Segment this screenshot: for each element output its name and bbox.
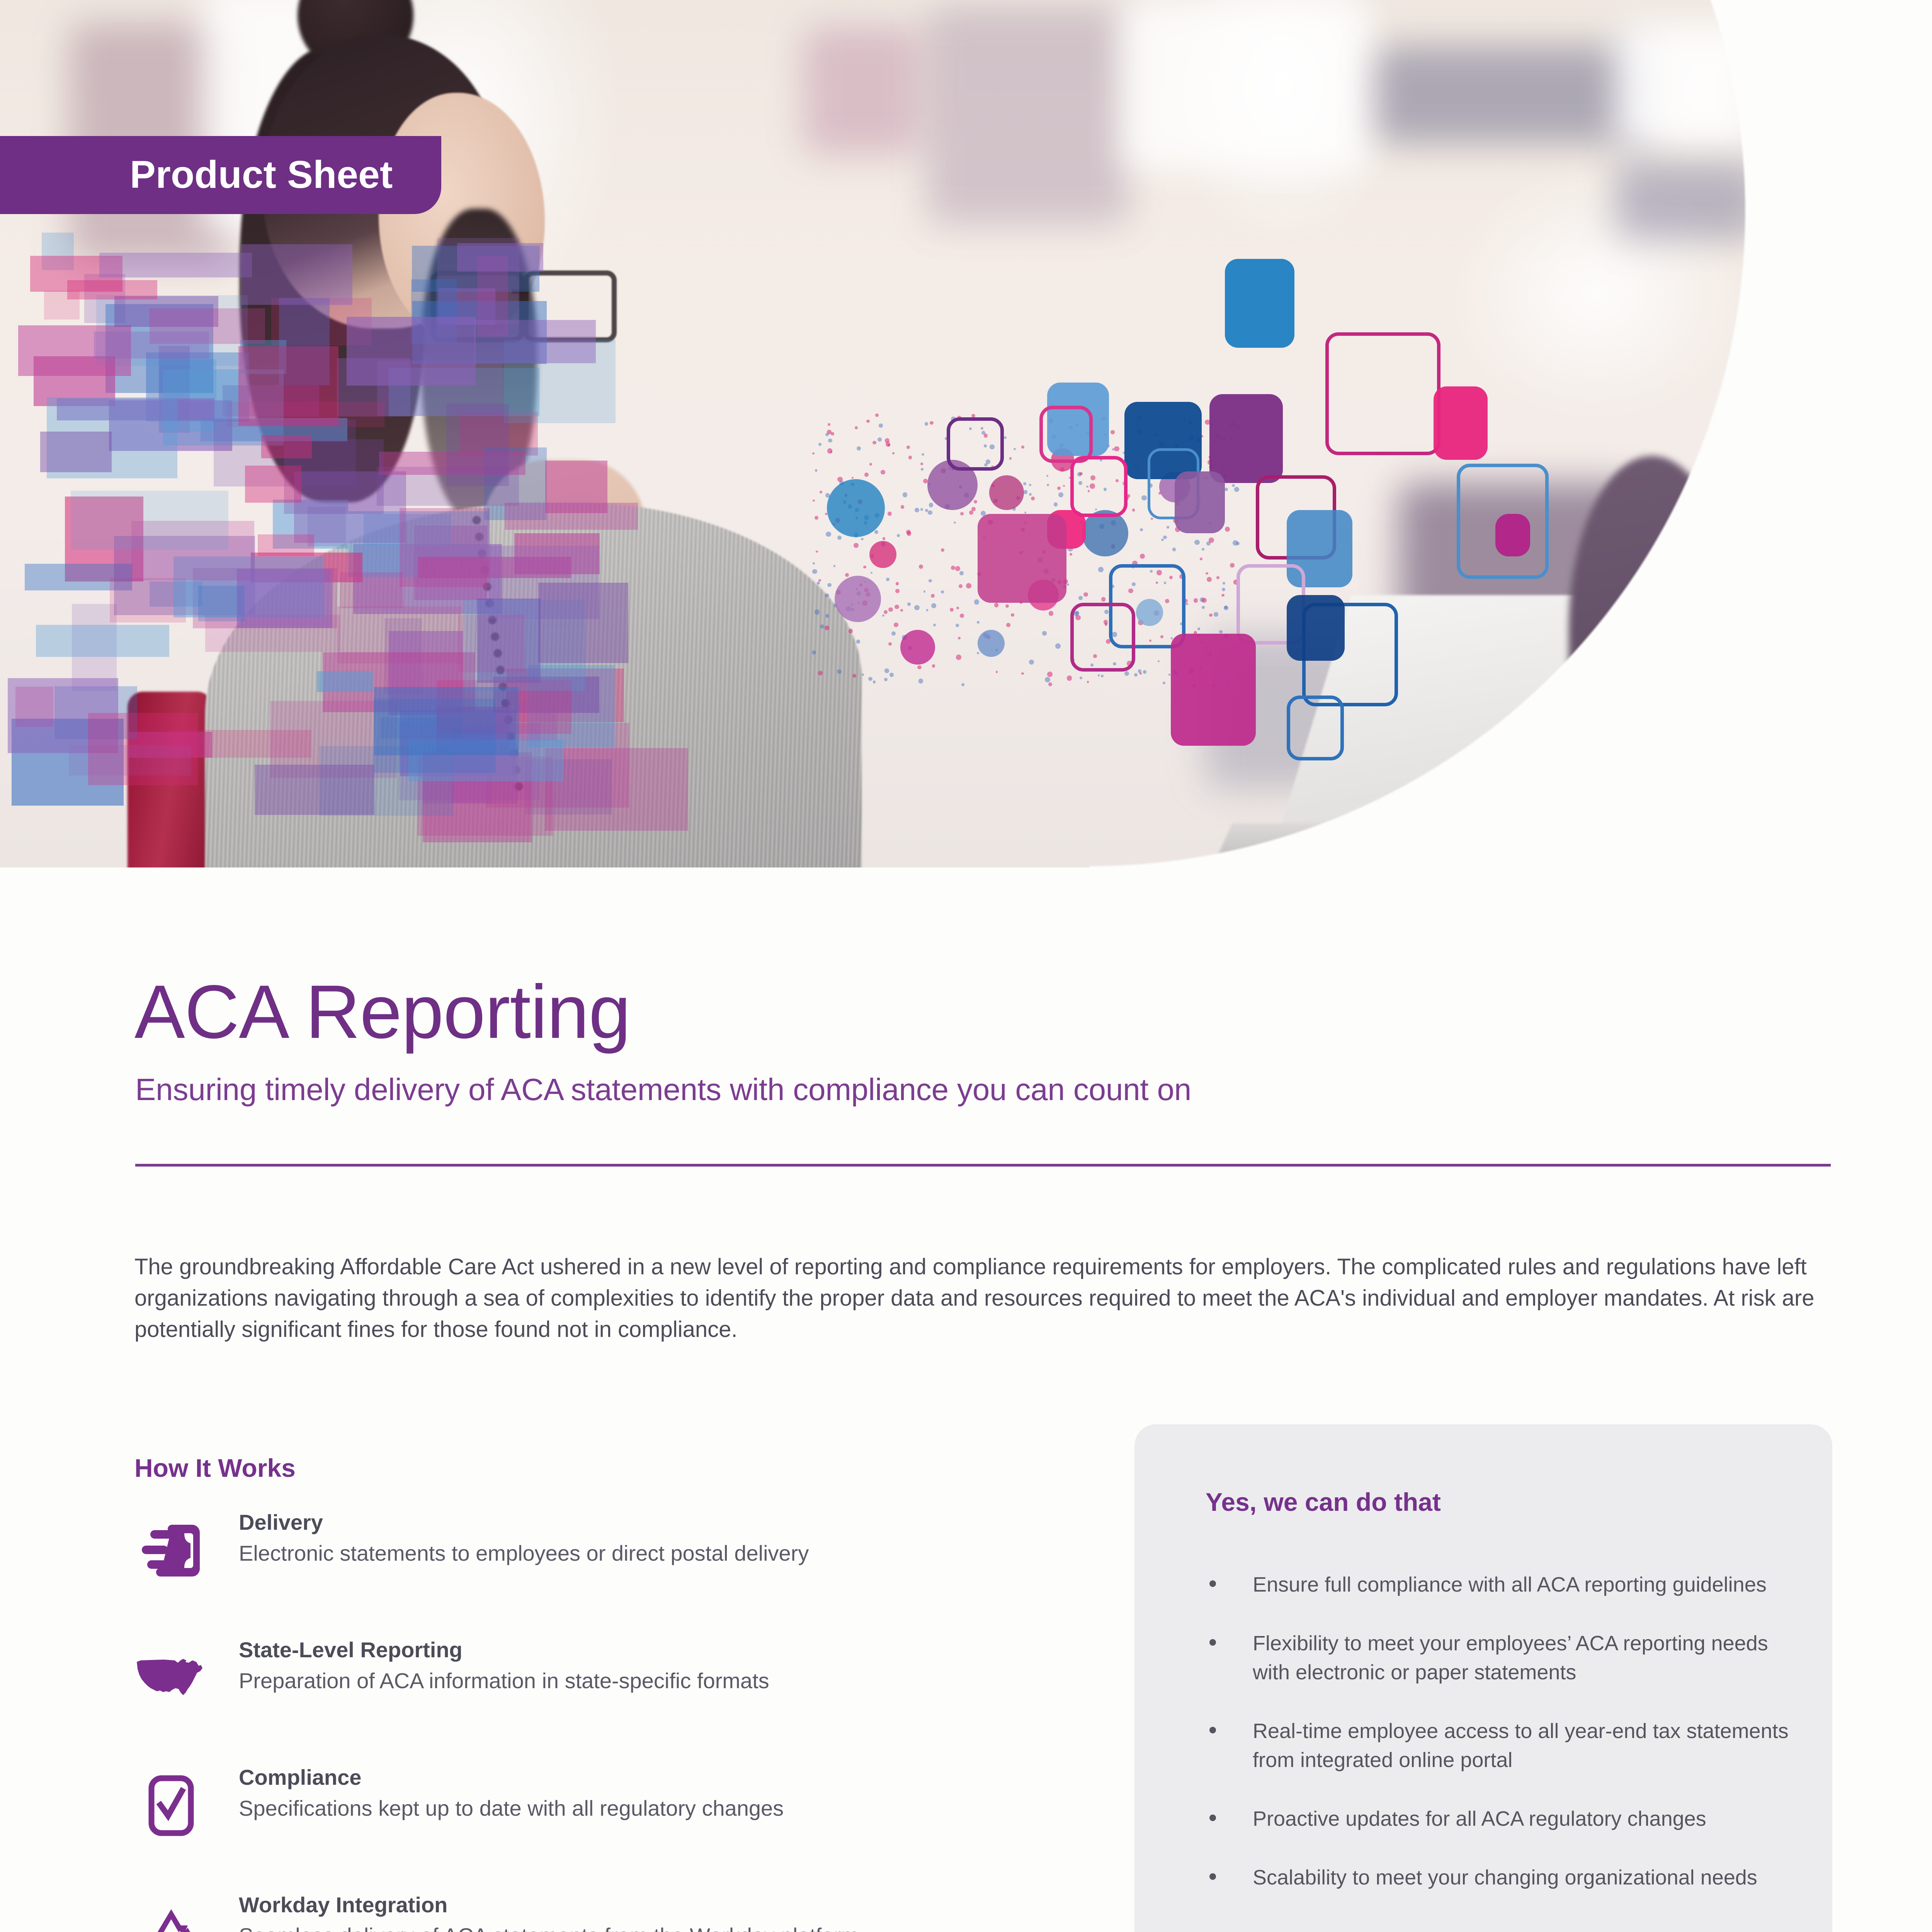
page-title: ACA Reporting (134, 974, 631, 1050)
feature-workday-integration: Workday Integration Seamless delivery of… (134, 1889, 1081, 1932)
checkbox-check-icon (134, 1769, 208, 1842)
feature-delivery: Delivery Electronic statements to employ… (134, 1507, 1081, 1596)
callout-bullet-item: Scalability to meet your changing organi… (1201, 1863, 1790, 1893)
feature-description: Electronic statements to employees or di… (239, 1539, 1081, 1568)
feature-compliance: Compliance Specifications kept up to dat… (134, 1762, 1081, 1851)
hero-photo (0, 0, 1747, 867)
product-sheet-badge-label: Product Sheet (130, 155, 393, 194)
callout-bullet-item: Flexibility to meet your employees’ ACA … (1201, 1629, 1790, 1687)
product-sheet-page: Product Sheet ACA Reporting Ensuring tim… (0, 0, 1932, 1932)
callout-bullet-text: Proactive updates for all ACA regulatory… (1253, 1807, 1706, 1830)
bullet-dot-icon (1209, 1639, 1216, 1646)
product-sheet-badge: Product Sheet (0, 136, 441, 214)
feature-description: Specifications kept up to date with all … (239, 1794, 1081, 1823)
floating-squares-graphic (831, 216, 1747, 866)
bullet-dot-icon (1209, 1873, 1216, 1880)
us-map-icon (134, 1641, 208, 1715)
how-it-works-list: Delivery Electronic statements to employ… (134, 1507, 1081, 1932)
callout-bullet-text: Flexibility to meet your employees’ ACA … (1253, 1632, 1768, 1684)
bullet-dot-icon (1209, 1727, 1216, 1733)
pixel-mosaic-graphic (0, 232, 603, 835)
feature-title: Compliance (239, 1765, 1081, 1790)
feature-title: State-Level Reporting (239, 1638, 1081, 1663)
callout-bullet-item: Real-time employee access to all year-en… (1201, 1717, 1790, 1775)
callout-title: Yes, we can do that (1206, 1489, 1441, 1515)
feature-description: Seamless delivery of ACA statements from… (239, 1922, 1081, 1932)
page-subtitle: Ensuring timely delivery of ACA statemen… (135, 1074, 1191, 1105)
feature-state-level-reporting: State-Level Reporting Preparation of ACA… (134, 1634, 1081, 1723)
callout-bullet-text: Ensure full compliance with all ACA repo… (1253, 1573, 1767, 1596)
feature-title: Delivery (239, 1510, 1081, 1535)
bullet-dot-icon (1209, 1580, 1216, 1587)
intro-paragraph: The groundbreaking Affordable Care Act u… (134, 1251, 1819, 1345)
hero-banner (0, 0, 1747, 867)
feature-description: Preparation of ACA information in state-… (239, 1667, 1081, 1695)
callout-bullet-list: Ensure full compliance with all ACA repo… (1201, 1570, 1790, 1922)
callout-bullet-text: Real-time employee access to all year-en… (1253, 1719, 1789, 1772)
callout-box: Yes, we can do that Ensure full complian… (1134, 1424, 1832, 1932)
how-it-works-heading: How It Works (134, 1455, 296, 1481)
feature-title: Workday Integration (239, 1893, 1081, 1918)
delivery-icon (134, 1514, 208, 1587)
bullet-dot-icon (1209, 1815, 1216, 1821)
header-divider (135, 1164, 1831, 1167)
callout-bullet-text: Scalability to meet your changing organi… (1253, 1866, 1757, 1889)
callout-bullet-item: Proactive updates for all ACA regulatory… (1201, 1804, 1790, 1834)
callout-bullet-item: Ensure full compliance with all ACA repo… (1201, 1570, 1790, 1600)
recycle-arrows-icon (134, 1896, 208, 1932)
